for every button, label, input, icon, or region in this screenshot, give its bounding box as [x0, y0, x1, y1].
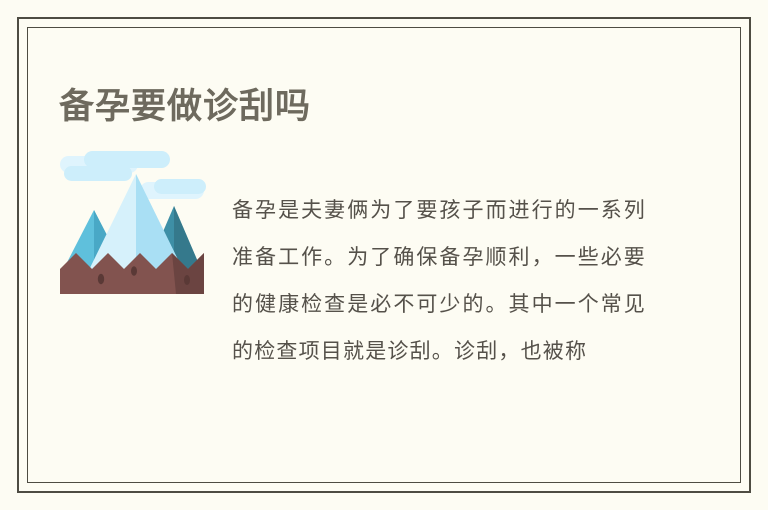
article-content: 备孕要做诊刮吗 — [0, 0, 768, 510]
article-paragraph: 备孕是夫妻俩为了要孩子而进行的一系列准备工作。为了确保备孕顺利，一些必要的健康检… — [232, 187, 646, 375]
page-title: 备孕要做诊刮吗 — [59, 85, 311, 129]
document-page: 备孕要做诊刮吗 — [0, 0, 768, 510]
mountain-illustration-icon — [56, 148, 216, 303]
